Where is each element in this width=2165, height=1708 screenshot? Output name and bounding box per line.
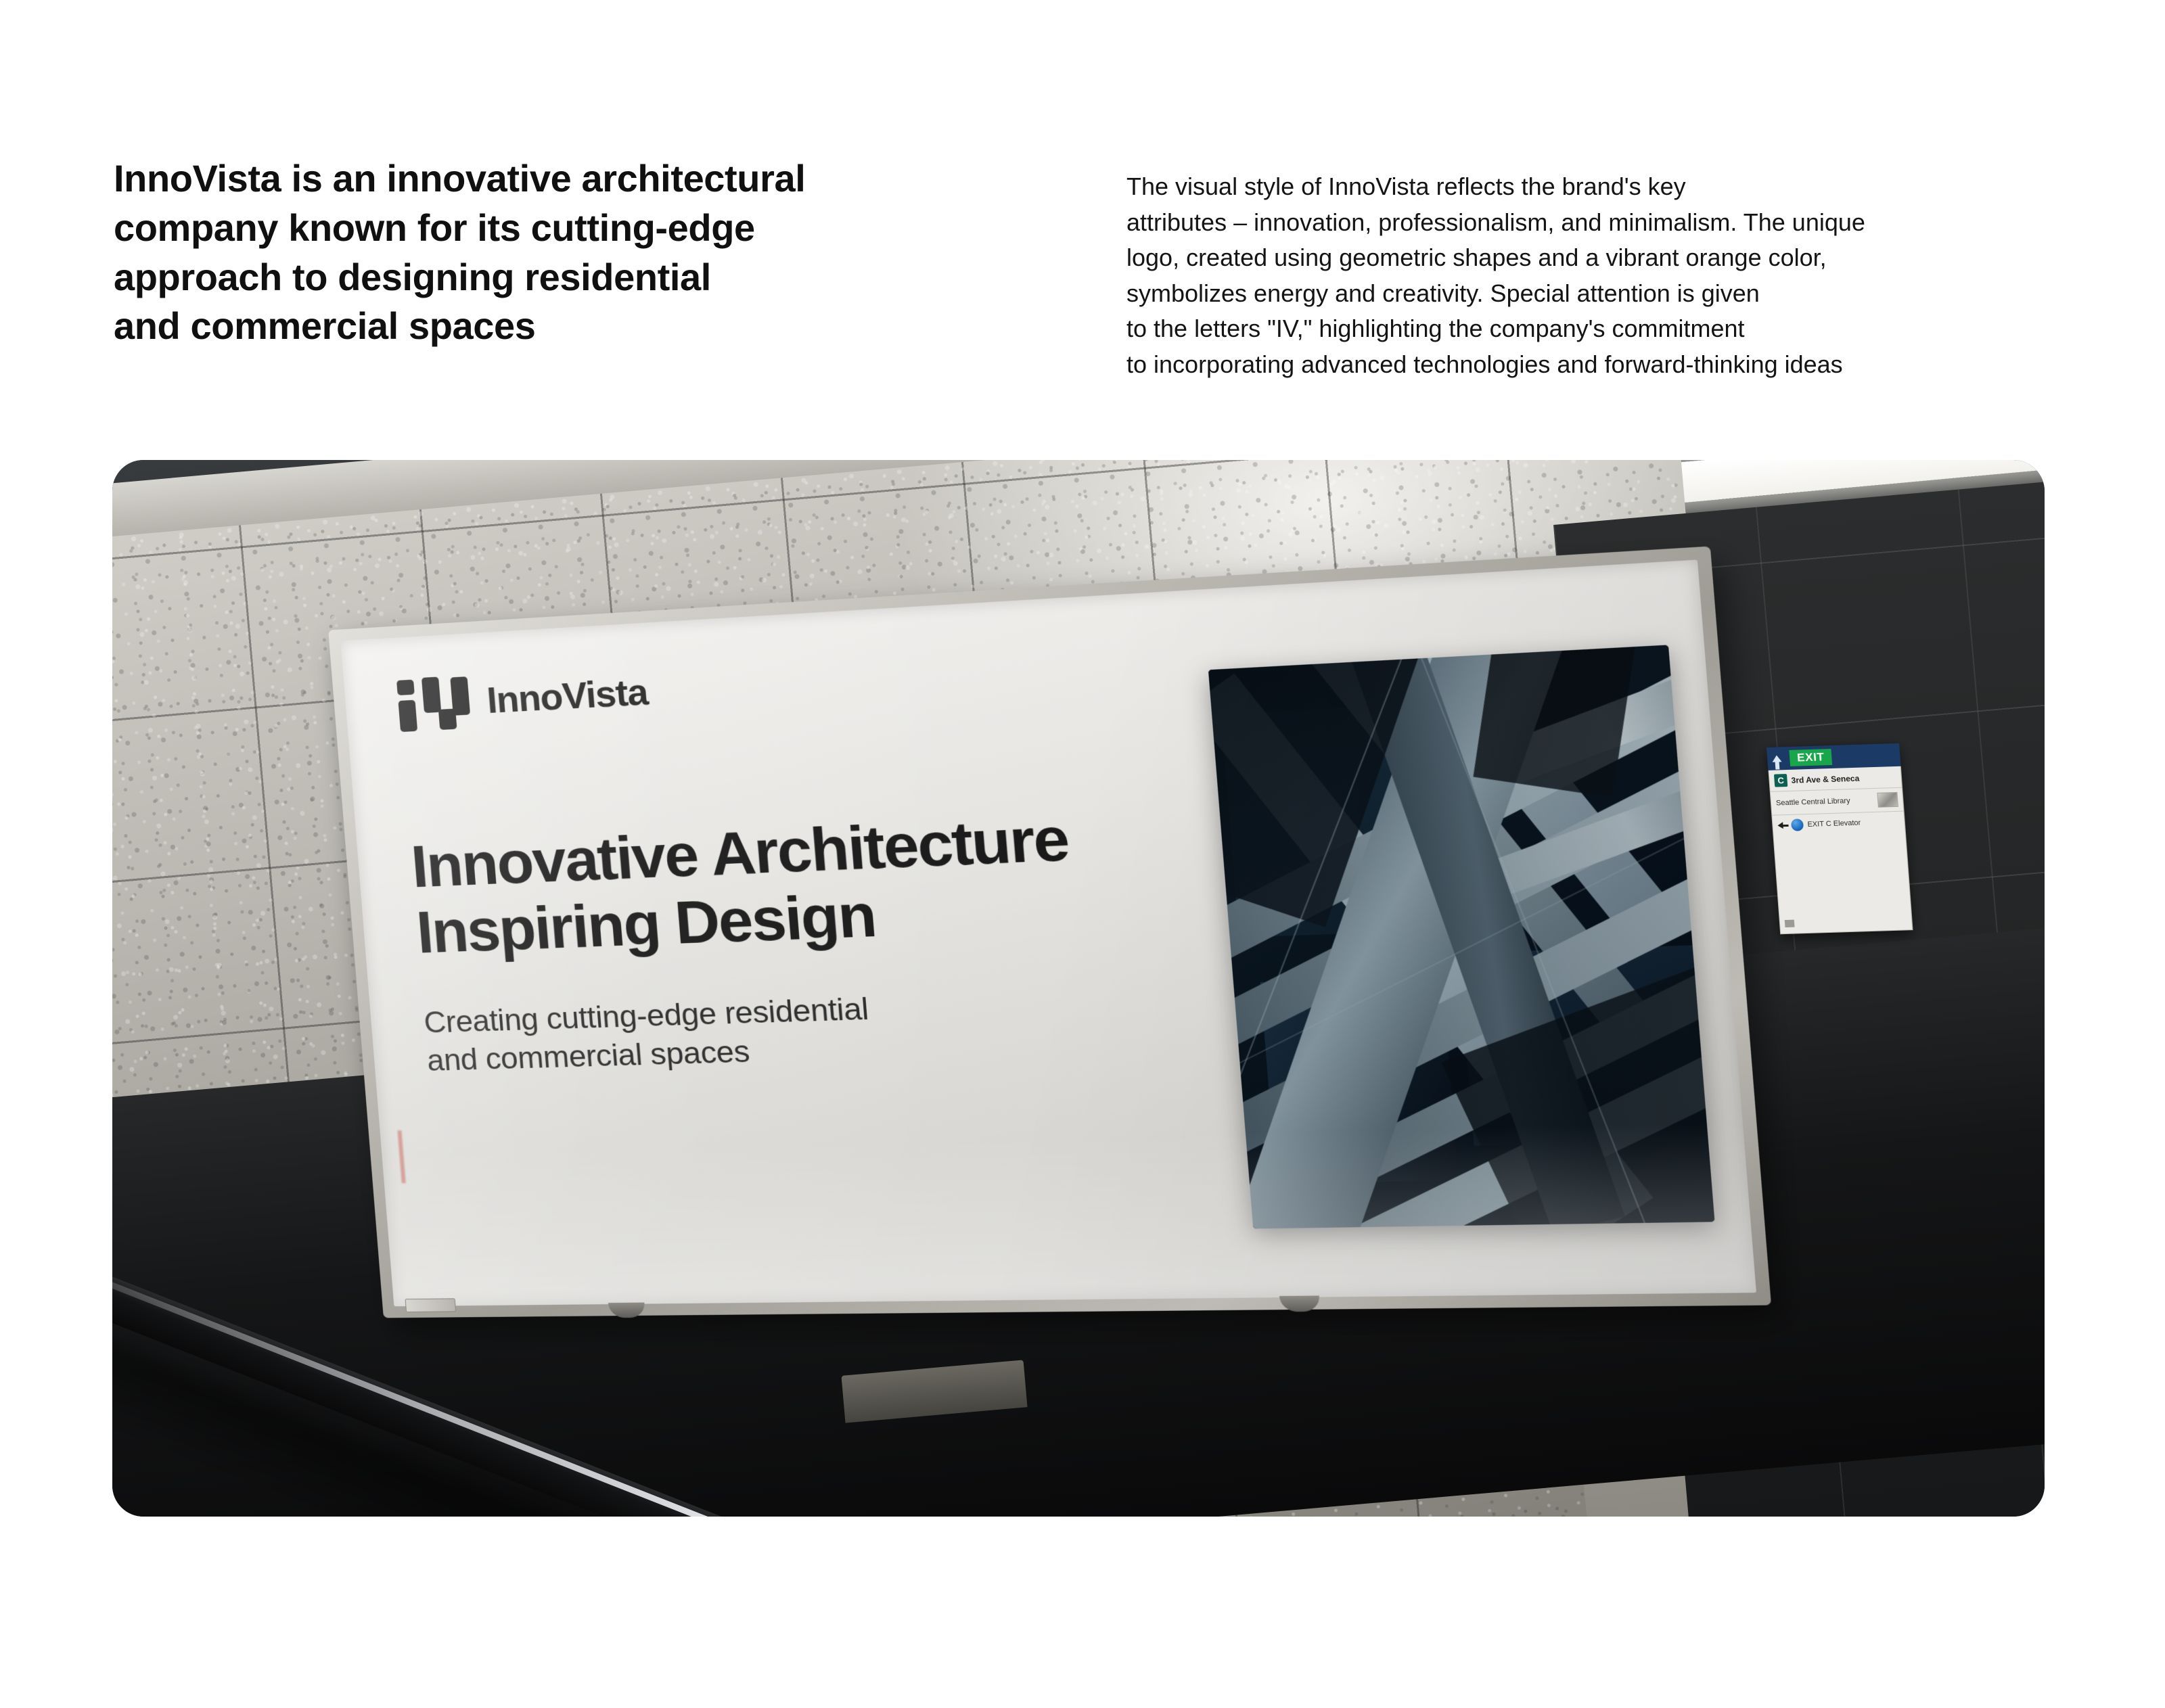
poster-text-column: InnoVista Innovative Architecture Inspir… [340, 589, 1258, 1306]
innovista-iv-mark-icon [396, 675, 472, 732]
arrow-up-icon [1772, 755, 1782, 762]
poster-image-column [1202, 559, 1756, 1297]
elevator-label: EXIT C Elevator [1807, 819, 1861, 829]
arrow-left-icon [1777, 822, 1783, 829]
transit-logo-icon [1785, 920, 1795, 927]
intro-body-text: The visual style of InnoVista reflects t… [1126, 169, 2074, 382]
billboard-frame: InnoVista Innovative Architecture Inspir… [328, 546, 1771, 1318]
billboard[interactable]: InnoVista Innovative Architecture Inspir… [328, 546, 1771, 1318]
wayfinding-sign: EXIT C 3rd Ave & Seneca Seattle Central … [1767, 743, 1913, 934]
innovista-logo-lockup: InnoVista [396, 632, 1210, 733]
station-badge-icon: C [1774, 774, 1787, 787]
intro-heading: InnoVista is an innovative architectural… [114, 154, 993, 351]
poster-headline: Innovative Architecture Inspiring Design [409, 798, 1229, 965]
wayfinding-blank-area [1774, 832, 1911, 917]
frame-label-badge [405, 1298, 457, 1312]
landmark-thumbnail-icon [1877, 792, 1898, 808]
landmark-name: Seattle Central Library [1776, 797, 1850, 807]
elevator-icon [1791, 818, 1804, 831]
presentation-page: InnoVista is an innovative architectural… [0, 0, 2165, 1708]
architecture-photo [1208, 645, 1715, 1228]
station-name: 3rd Ave & Seneca [1791, 773, 1860, 785]
poster-content: InnoVista Innovative Architecture Inspir… [340, 559, 1756, 1306]
billboard-mockup-photo: EXIT C 3rd Ave & Seneca Seattle Central … [112, 460, 2045, 1517]
poster-subheadline: Creating cutting-edge residential and co… [422, 977, 1239, 1080]
exit-label: EXIT [1789, 749, 1832, 766]
billboard-poster-surface: InnoVista Innovative Architecture Inspir… [340, 559, 1756, 1306]
wayfinding-panel: C 3rd Ave & Seneca Seattle Central Libra… [1768, 766, 1913, 935]
innovista-wordmark: InnoVista [486, 673, 649, 719]
